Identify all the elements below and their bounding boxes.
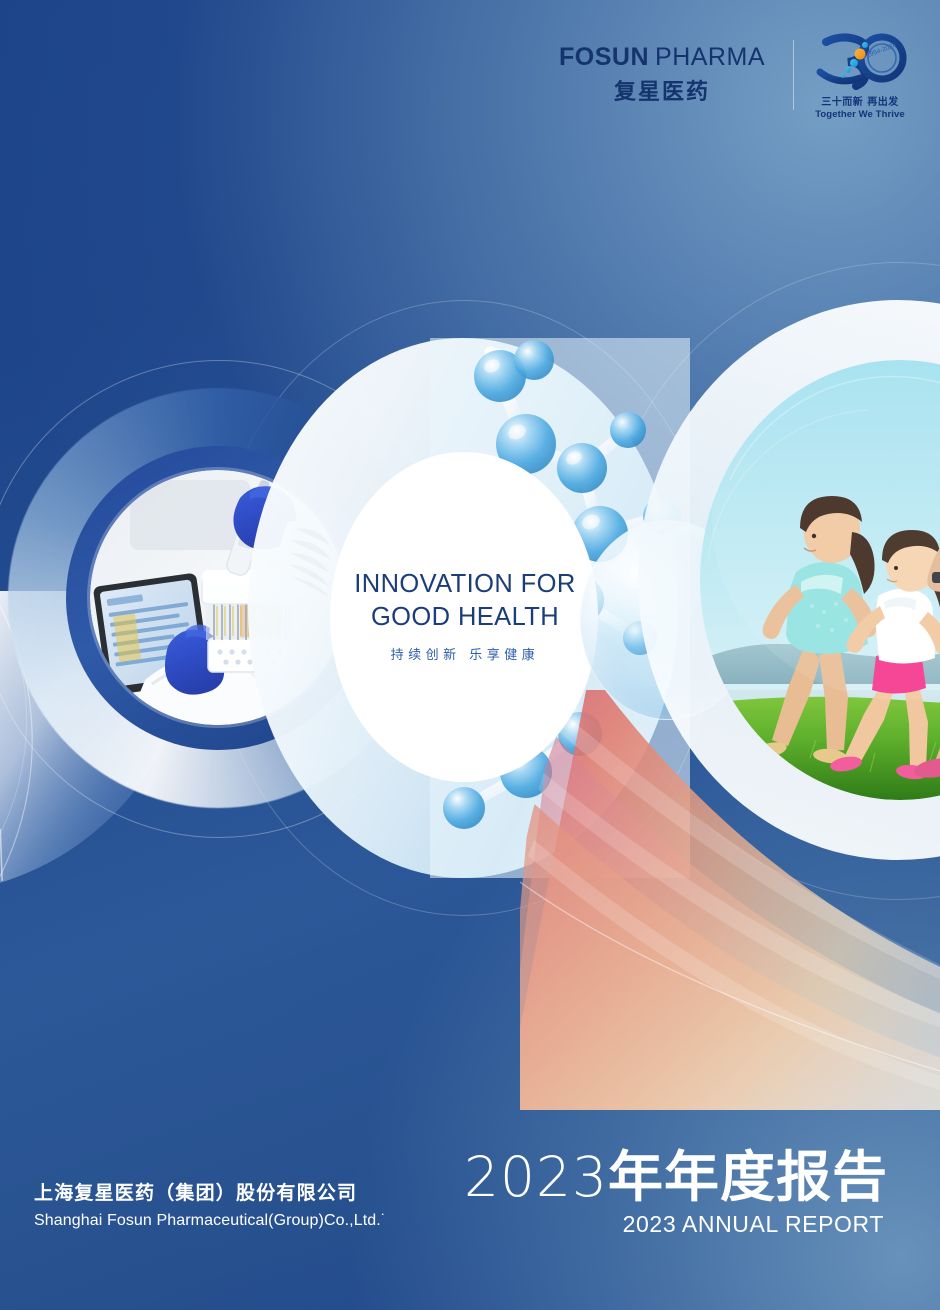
wordmark-chinese: 复星医药 (614, 74, 710, 106)
slogan-line-1: INNOVATION FOR (330, 568, 600, 601)
report-title-main: 2023年年度报告 (464, 1149, 888, 1205)
wordmark-pharma: PHARMA (655, 43, 765, 71)
report-title-block: 2023年年度报告 2023 ANNUAL REPORT (464, 1149, 888, 1238)
report-title-cn: 年年度报告 (608, 1145, 888, 1209)
report-year: 2023 (464, 1145, 608, 1209)
logo-divider (793, 40, 794, 110)
slogan-chinese: 持续创新 乐享健康 (330, 644, 600, 663)
slogan-line-2: GOOD HEALTH (330, 601, 600, 634)
anniversary-30-mark: 1994-2024 (810, 30, 910, 92)
brand-logo-block: FOSUNPHARMA 复星医药 (559, 30, 912, 120)
annual-report-cover: FOSUNPHARMA 复星医药 (0, 0, 940, 1310)
anniversary-tagline-en: Together We Thrive (815, 109, 905, 120)
company-name-en: Shanghai Fosun Pharmaceutical(Group)Co.,… (34, 1211, 386, 1232)
company-name-cn: 上海复星医药（集团）股份有限公司 (34, 1180, 386, 1208)
wordmark-fosun: FOSUN (559, 43, 649, 71)
company-name-block: 上海复星医药（集团）股份有限公司 Shanghai Fosun Pharmace… (34, 1180, 386, 1232)
cover-slogan-block: INNOVATION FOR GOOD HEALTH 持续创新 乐享健康 (330, 568, 600, 663)
anniversary-tagline-cn: 三十而新 再出发 (821, 93, 898, 108)
anniversary-logo: 1994-2024 三十而新 再出发 Together We Thrive (808, 30, 912, 120)
fosun-wordmark: FOSUNPHARMA 复星医药 (559, 44, 779, 105)
wordmark-english: FOSUNPHARMA (559, 44, 765, 70)
report-title-en: 2023 ANNUAL REPORT (464, 1211, 888, 1238)
